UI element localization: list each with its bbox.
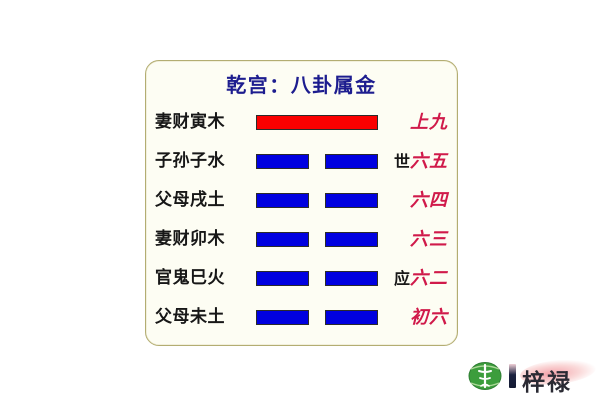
- yao-position-label: 上九: [410, 112, 448, 133]
- page-title: 乾宫：八卦属金: [146, 69, 457, 98]
- hexagram-row: 妻财卯木 六三: [146, 220, 457, 259]
- row-label-relative: 官鬼巳火: [155, 259, 259, 298]
- yao-segment-left: [256, 310, 309, 325]
- row-label-relative: 父母戌土: [155, 181, 259, 220]
- row-label-relative: 子孙子水: [155, 142, 259, 181]
- yao-segment-right: [325, 271, 378, 286]
- watermark-bar: [509, 364, 516, 388]
- shi-ying-marker: 世: [394, 152, 410, 171]
- watermark: 梓禄: [468, 356, 598, 398]
- hexagram-lines-list: 妻财寅木 上九 子孙子水 世六五 父母戌土: [146, 103, 457, 337]
- yao-segment-left: [256, 193, 309, 208]
- yao-line-yin: [256, 232, 378, 247]
- yao-segment-right: [325, 193, 378, 208]
- hexagram-row: 妻财寅木 上九: [146, 103, 457, 142]
- yao-line-yin: [256, 193, 378, 208]
- yao-segment-left: [256, 271, 309, 286]
- row-label-relative: 妻财寅木: [155, 103, 259, 142]
- yao-segment-right: [325, 310, 378, 325]
- row-right-group: 世六五: [382, 142, 456, 181]
- yao-segment-left: [256, 154, 309, 169]
- yao-segment-right: [325, 154, 378, 169]
- yao-position-label: 六四: [410, 190, 448, 211]
- leaf-globe-icon: [468, 360, 502, 392]
- row-label-relative: 父母未土: [155, 298, 259, 337]
- yao-position-label: 六五: [410, 151, 448, 172]
- yao-line-yang: [256, 115, 378, 130]
- yao-line-yin: [256, 271, 378, 286]
- hexagram-panel: 乾宫：八卦属金 妻财寅木 上九 子孙子水 世六五 父母戌土: [145, 60, 458, 346]
- row-right-group: 六四: [382, 181, 456, 220]
- row-right-group: 六三: [382, 220, 456, 259]
- yao-position-label: 初六: [410, 307, 448, 328]
- hexagram-row: 官鬼巳火 应六二: [146, 259, 457, 298]
- yao-segment-right: [325, 232, 378, 247]
- hexagram-row: 父母戌土 六四: [146, 181, 457, 220]
- watermark-text: 梓禄: [522, 363, 572, 397]
- yao-position-label: 六三: [410, 229, 448, 250]
- yao-segment-solid: [256, 115, 378, 130]
- hexagram-row: 子孙子水 世六五: [146, 142, 457, 181]
- yao-line-yin: [256, 154, 378, 169]
- yao-segment-left: [256, 232, 309, 247]
- row-right-group: 上九: [382, 103, 456, 142]
- row-label-relative: 妻财卯木: [155, 220, 259, 259]
- row-right-group: 应六二: [382, 259, 456, 298]
- hexagram-row: 父母未土 初六: [146, 298, 457, 337]
- yao-position-label: 六二: [410, 268, 448, 289]
- shi-ying-marker: 应: [394, 269, 410, 288]
- yao-line-yin: [256, 310, 378, 325]
- row-right-group: 初六: [382, 298, 456, 337]
